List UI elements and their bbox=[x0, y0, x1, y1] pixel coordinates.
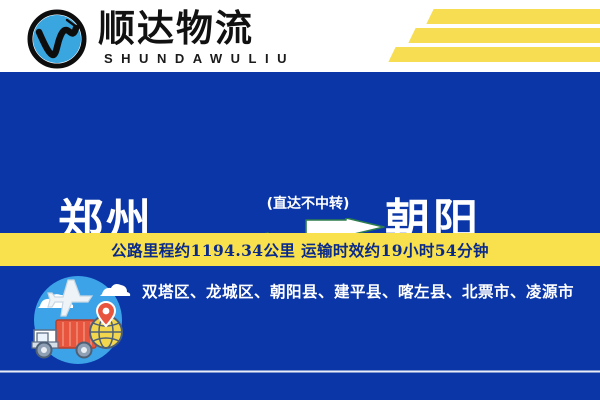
coverage-districts-text: 双塔区、龙城区、朝阳县、建平县、喀左县、北票市、凌源市 bbox=[142, 278, 590, 305]
brand-name-cn: 顺达物流 bbox=[98, 8, 254, 50]
distance-duration-text: 公路里程约1194.34公里 运输时效约19小时54分钟 bbox=[111, 239, 489, 261]
brand-name-en: SHUNDAWULIU bbox=[104, 51, 295, 66]
direct-route-note: (直达不中转) bbox=[248, 193, 368, 213]
banner-footer bbox=[0, 373, 600, 400]
decorative-stripes bbox=[330, 0, 600, 72]
stripe-1 bbox=[426, 9, 600, 24]
logistics-illustration-icon bbox=[22, 272, 134, 368]
route-section: 郑州 (直达不中转) 【往返运输】 朝阳 bbox=[0, 72, 600, 233]
stripe-2 bbox=[408, 28, 600, 43]
company-logo-icon bbox=[26, 8, 88, 70]
logistics-route-banner: 顺达物流 SHUNDAWULIU 郑州 (直达不中转) 【往返运输】 朝阳 公路… bbox=[0, 0, 600, 400]
distance-duration-bar: 公路里程约1194.34公里 运输时效约19小时54分钟 bbox=[0, 233, 600, 266]
stripe-3 bbox=[388, 47, 600, 62]
banner-header: 顺达物流 SHUNDAWULIU bbox=[0, 0, 600, 72]
coverage-section: 双塔区、龙城区、朝阳县、建平县、喀左县、北票市、凌源市 bbox=[0, 266, 600, 371]
